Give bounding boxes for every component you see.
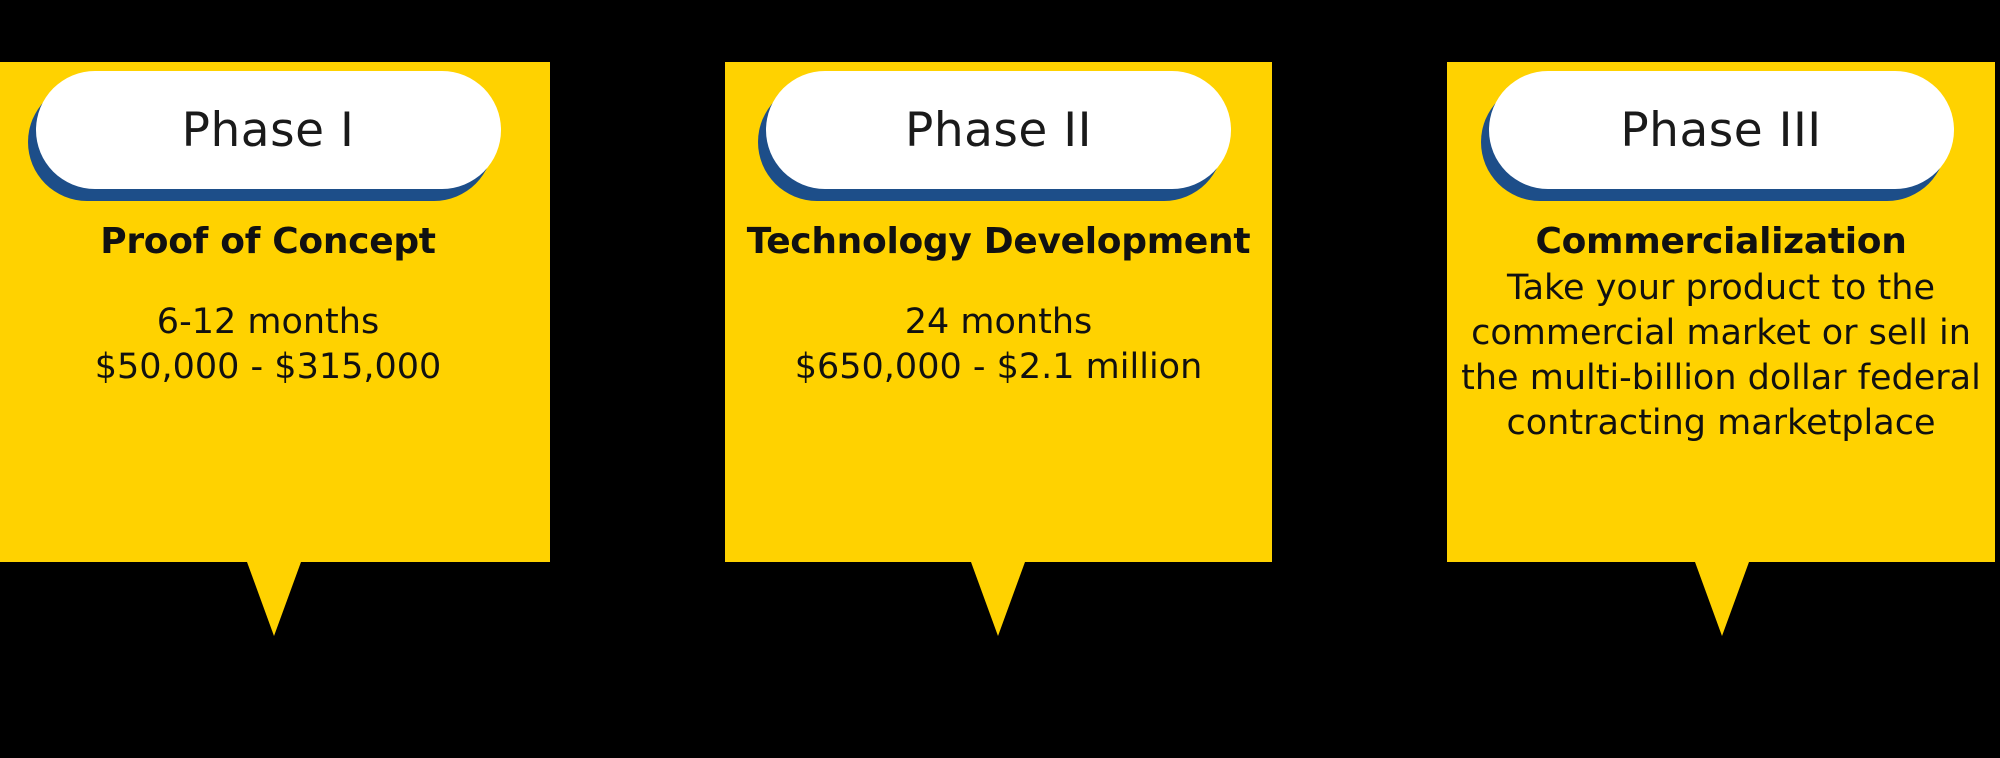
phase-pill-body-3: Phase III	[1489, 71, 1954, 189]
phase-pill-label-3: Phase III	[1620, 107, 1821, 154]
phase-detail-3: Take your product to the commercial mark…	[1457, 266, 1985, 445]
timeline-track	[0, 620, 2000, 758]
phase-detail-line: 24 months	[735, 300, 1262, 345]
phase-detail-2: 24 months $650,000 - $2.1 million	[735, 300, 1262, 390]
phase-title-2: Technology Development	[735, 221, 1262, 262]
phase-detail-line: 6-12 months	[0, 300, 540, 345]
phase-pill-2: Phase II	[766, 71, 1231, 201]
phase-detail-line: $50,000 - $315,000	[0, 345, 540, 390]
phases-timeline-diagram: Phase I Proof of Concept 6-12 months $50…	[0, 0, 2000, 758]
phase-card-1: Phase I Proof of Concept 6-12 months $50…	[0, 62, 550, 562]
phase-pill-body-1: Phase I	[36, 71, 501, 189]
phase-detail-line: contracting marketplace	[1457, 401, 1985, 446]
phase-card-2: Phase II Technology Development 24 month…	[725, 62, 1272, 562]
phase-pill-3: Phase III	[1489, 71, 1954, 201]
phase-pill-1: Phase I	[36, 71, 501, 201]
phase-detail-line: $650,000 - $2.1 million	[735, 345, 1262, 390]
phase-detail-1: 6-12 months $50,000 - $315,000	[0, 300, 540, 390]
phase-pill-label-1: Phase I	[182, 107, 355, 154]
phase-pill-label-2: Phase II	[905, 107, 1092, 154]
phase-detail-line: the multi-billion dollar federal	[1457, 356, 1985, 401]
phase-card-3: Phase III Commercialization Take your pr…	[1447, 62, 1995, 562]
phase-detail-line: commercial market or sell in	[1457, 311, 1985, 356]
phase-pill-body-2: Phase II	[766, 71, 1231, 189]
phase-detail-line: Take your product to the	[1457, 266, 1985, 311]
phase-title-3: Commercialization	[1457, 221, 1985, 262]
phase-title-1: Proof of Concept	[0, 221, 540, 262]
